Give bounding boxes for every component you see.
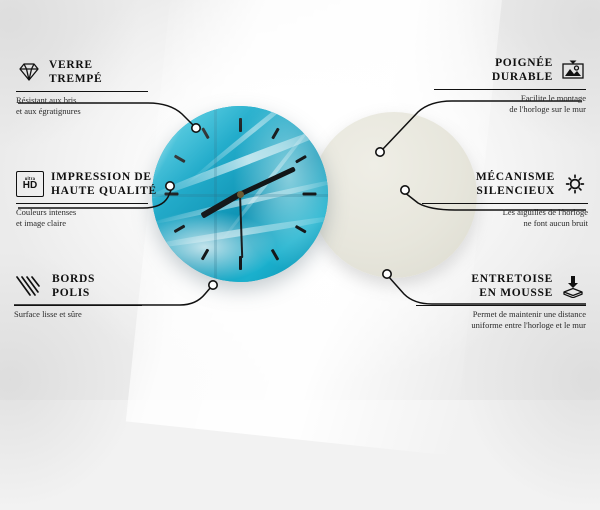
feature-description: Permet de maintenir une distanceuniforme… xyxy=(416,309,586,332)
feature-title: IMPRESSION DEHAUTE QUALITÉ xyxy=(51,170,157,199)
diamond-icon xyxy=(16,60,42,84)
leader-dot-bords-polis xyxy=(209,281,217,289)
feature-description: Facilite le montagede l'horloge sur le m… xyxy=(434,93,586,116)
feature-mecanisme-silencieux: MÉCANISMESILENCIEUX Les aiguilles de l'h… xyxy=(422,170,588,230)
feature-rule xyxy=(434,89,586,90)
feature-description: Couleurs intenseset image claire xyxy=(16,207,148,230)
feature-rule xyxy=(422,203,588,204)
feature-entretoise-en-mousse: ENTRETOISEEN MOUSSE Permet de maintenir … xyxy=(416,272,586,332)
feature-description: Les aiguilles de l'horlogene font aucun … xyxy=(422,207,588,230)
feature-rule xyxy=(16,91,148,92)
badge-main-text: HD xyxy=(23,181,37,191)
clock-front-face xyxy=(152,106,328,282)
feature-header: MÉCANISMESILENCIEUX xyxy=(422,170,588,199)
feature-description: Résistant aux briset aux égratignures xyxy=(16,95,148,118)
press-down-foam-icon xyxy=(560,274,586,298)
feature-poignee-durable: POIGNÉEDURABLE Facilite le montagede l'h… xyxy=(434,56,586,116)
feature-header: BORDSPOLIS xyxy=(14,272,142,301)
feature-title: VERRETREMPÉ xyxy=(49,58,102,87)
glass-gloss-overlay xyxy=(152,106,328,282)
feature-title: ENTRETOISEEN MOUSSE xyxy=(471,272,553,301)
feature-bords-polis: BORDSPOLIS Surface lisse et sûre xyxy=(14,272,142,320)
feature-verre-trempe: VERRETREMPÉ Résistant aux briset aux égr… xyxy=(16,58,148,118)
feature-title: POIGNÉEDURABLE xyxy=(492,56,553,85)
gear-icon xyxy=(562,172,588,196)
feature-impression-haute-qualite: ultra HD IMPRESSION DEHAUTE QUALITÉ Coul… xyxy=(16,170,148,230)
picture-hanger-icon xyxy=(560,58,586,82)
feature-header: VERRETREMPÉ xyxy=(16,58,148,87)
ultra-hd-badge-icon: ultra HD xyxy=(16,171,44,197)
feature-title: MÉCANISMESILENCIEUX xyxy=(476,170,555,199)
feature-header: POIGNÉEDURABLE xyxy=(434,56,586,85)
feature-description: Surface lisse et sûre xyxy=(14,309,142,320)
infographic-canvas: VERRETREMPÉ Résistant aux briset aux égr… xyxy=(0,0,600,400)
feature-rule xyxy=(14,305,142,306)
feature-rule xyxy=(16,203,148,204)
feature-rule xyxy=(416,305,586,306)
feature-header: ultra HD IMPRESSION DEHAUTE QUALITÉ xyxy=(16,170,148,199)
feature-header: ENTRETOISEEN MOUSSE xyxy=(416,272,586,301)
diagonal-stripes-icon xyxy=(14,274,40,298)
feature-title: BORDSPOLIS xyxy=(52,272,95,301)
